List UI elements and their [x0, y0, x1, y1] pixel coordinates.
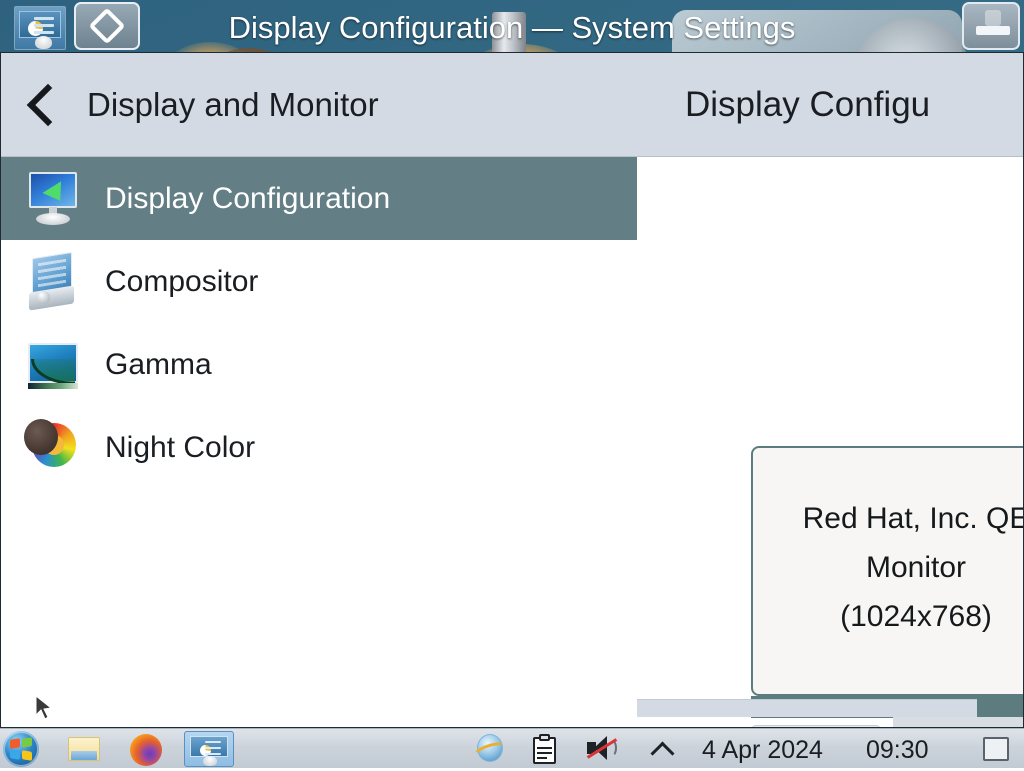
display-configuration-panel: Red Hat, Inc. QE Monitor (1024x768) Rese… [637, 157, 1024, 728]
sidebar-item-label: Display Configuration [105, 182, 390, 216]
clipboard-icon[interactable] [531, 734, 559, 764]
system-settings-icon [14, 6, 66, 50]
sidebar-item-compositor[interactable]: Compositor [1, 240, 637, 323]
sidebar: Display Configuration Compositor Gamma N… [1, 157, 637, 728]
monitor-resolution: (1024x768) [753, 592, 1024, 641]
sidebar-item-label: Gamma [105, 348, 212, 382]
compositor-icon [23, 253, 83, 311]
taskbar-time[interactable]: 09:30 [866, 729, 929, 769]
secondary-button-area[interactable] [893, 717, 1024, 728]
window-titlebar[interactable]: Display Configuration — System Settings [0, 0, 1024, 52]
sidebar-item-label: Compositor [105, 265, 258, 299]
panel-shelf [637, 699, 977, 717]
night-color-icon [23, 419, 83, 477]
file-manager-icon[interactable] [66, 731, 102, 767]
display-configuration-icon [23, 170, 83, 228]
back-button[interactable] [1, 53, 87, 157]
window-title: Display Configuration — System Settings [0, 0, 1024, 52]
monitor-name-line-1: Red Hat, Inc. QE [753, 494, 1024, 543]
page-header: Display and Monitor Display Configu [1, 53, 1024, 157]
windows-start-orb-icon[interactable] [3, 731, 39, 767]
page-title: Display Configu [685, 53, 930, 157]
internet-explorer-icon[interactable] [474, 732, 506, 766]
monitor-preview[interactable]: Red Hat, Inc. QE Monitor (1024x768) [751, 446, 1024, 696]
system-settings-taskbar-button[interactable] [184, 731, 234, 767]
chevron-left-icon [27, 83, 69, 125]
sidebar-item-display-configuration[interactable]: Display Configuration [1, 157, 637, 240]
mouse-cursor [34, 695, 54, 721]
volume-muted-icon[interactable] [586, 734, 618, 764]
taskbar-date[interactable]: 4 Apr 2024 [702, 729, 823, 769]
diamond-icon[interactable] [74, 2, 140, 50]
sidebar-item-night-color[interactable]: Night Color [1, 406, 637, 489]
breadcrumb[interactable]: Display and Monitor [87, 86, 379, 124]
monitor-name-line-2: Monitor [753, 543, 1024, 592]
minimize-icon[interactable] [962, 2, 1020, 50]
firefox-icon[interactable] [128, 731, 164, 767]
gamma-icon [23, 336, 83, 394]
show-desktop-icon[interactable] [983, 737, 1009, 761]
sidebar-item-gamma[interactable]: Gamma [1, 323, 637, 406]
taskbar: 4 Apr 2024 09:30 [0, 728, 1024, 768]
sidebar-item-label: Night Color [105, 431, 255, 465]
chevron-up-icon[interactable] [650, 739, 678, 759]
system-settings-window: Display and Monitor Display Configu Disp… [0, 52, 1024, 728]
